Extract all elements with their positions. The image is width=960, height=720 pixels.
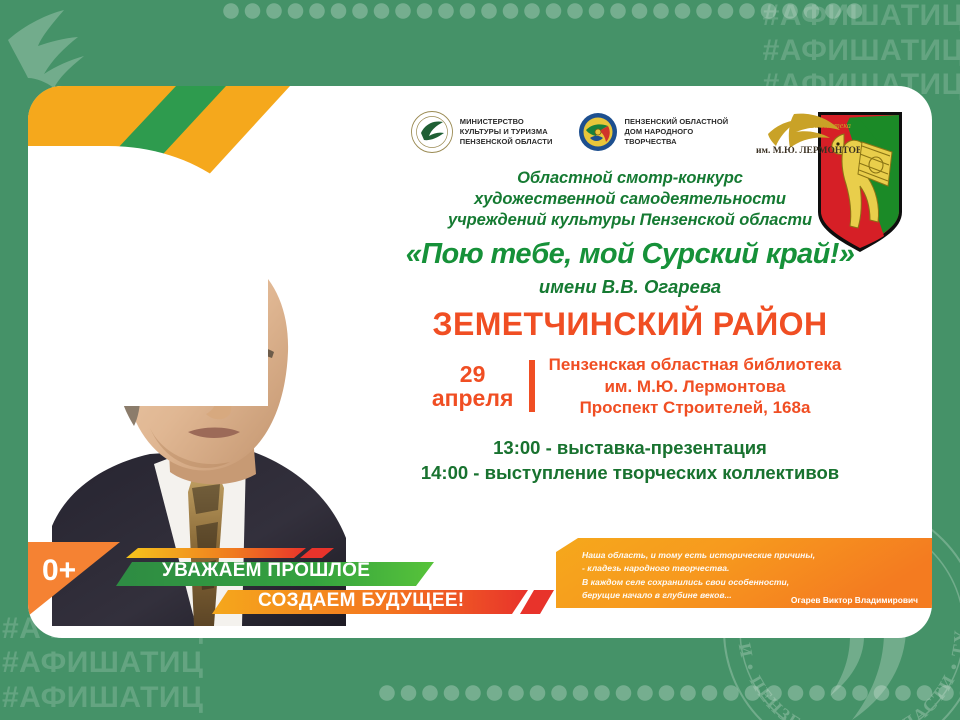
logo-lermontov-library: Библиотека им. М.Ю. ЛЕРМОНТОВА — [754, 108, 860, 156]
age-rating-badge: 0+ — [28, 542, 120, 616]
age-rating-label: 0+ — [42, 554, 76, 588]
event-schedule: 13:00 - выставка-презентация 14:00 - выс… — [328, 436, 932, 486]
event-when-where: 29 апреля Пензенская областная библиотек… — [328, 354, 932, 418]
logo-folk-art-house: ПЕНЗЕНСКИЙ ОБЛАСТНОЙ ДОМ НАРОДНОГО ТВОРЧ… — [578, 112, 728, 152]
event-subtitle: Областной смотр-конкурс художественной с… — [328, 168, 932, 231]
lermontov-library-emblem-icon: Библиотека им. М.Ю. ЛЕРМОНТОВА — [754, 108, 860, 156]
slogan-banner: УВАЖАЕМ ПРОШЛОЕ СОЗДАЕМ БУДУЩЕЕ! — [116, 546, 556, 620]
vertical-divider — [529, 360, 535, 412]
svg-text:им. М.Ю. ЛЕРМОНТОВА: им. М.Ю. ЛЕРМОНТОВА — [756, 146, 860, 156]
svg-text:Библиотека: Библиотека — [809, 121, 851, 130]
logo-ministry: МИНИСТЕРСТВО КУЛЬТУРЫ И ТУРИЗМА ПЕНЗЕНСК… — [410, 110, 553, 154]
quote-author: Огарев Виктор Владимирович — [791, 595, 918, 605]
quote-block: Наша область, и тому есть исторические п… — [556, 538, 932, 612]
event-honor-name: имени В.В. Огарева — [328, 276, 932, 298]
event-district: ЗЕМЕТЧИНСКИЙ РАЙОН — [328, 306, 932, 343]
ministry-logo-text: МИНИСТЕРСТВО КУЛЬТУРЫ И ТУРИЗМА ПЕНЗЕНСК… — [460, 117, 553, 147]
folk-art-house-logo-text: ПЕНЗЕНСКИЙ ОБЛАСТНОЙ ДОМ НАРОДНОГО ТВОРЧ… — [624, 117, 728, 147]
ministry-emblem-icon — [410, 110, 454, 154]
partner-logos: МИНИСТЕРСТВО КУЛЬТУРЫ И ТУРИЗМА ПЕНЗЕНСК… — [328, 100, 932, 164]
slogan-line-2: СОЗДАЕМ БУДУЩЕЕ! — [258, 590, 464, 612]
event-venue: Пензенская областная библиотека им. М.Ю.… — [549, 354, 842, 418]
poster-content: МИНИСТЕРСТВО КУЛЬТУРЫ И ТУРИЗМА ПЕНЗЕНСК… — [328, 100, 932, 486]
poster-footer: 0+ — [28, 542, 932, 638]
event-date: 29 апреля — [419, 362, 527, 411]
folk-art-house-emblem-icon — [578, 112, 618, 152]
poster-card: МИНИСТЕРСТВО КУЛЬТУРЫ И ТУРИЗМА ПЕНЗЕНСК… — [28, 86, 932, 638]
slogan-line-1: УВАЖАЕМ ПРОШЛОЕ — [162, 560, 370, 582]
swallow-icon — [2, 4, 132, 94]
event-main-title: «Пою тебе, мой Сурский край!» — [328, 238, 932, 271]
